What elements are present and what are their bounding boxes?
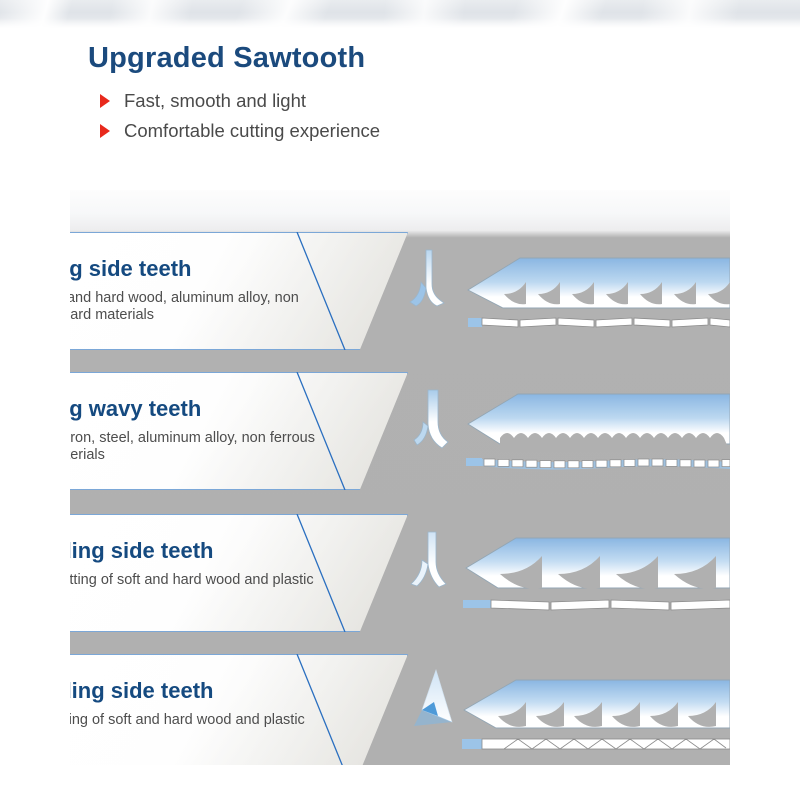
milling-side-tooth-profile-icon	[410, 250, 444, 306]
feature-row-2: Milling wavy teeth Cut soft iron, steel,…	[0, 372, 800, 490]
red-triangle-bullet-icon	[100, 124, 110, 138]
milling-side-teeth-blade	[408, 232, 730, 350]
right-white-margin	[730, 190, 800, 765]
decorative-top-band	[0, 0, 800, 28]
feature-row-3: Grinding side teeth Quick cutting of sof…	[0, 514, 800, 632]
tooth-set-top-view	[466, 458, 730, 470]
list-item: Fast, smooth and light	[100, 86, 380, 116]
tooth-set-top-view	[462, 739, 730, 749]
header-section: Upgraded Sawtooth Fast, smooth and light…	[0, 28, 800, 180]
infographic-page: Upgraded Sawtooth Fast, smooth and light…	[0, 0, 800, 800]
tooth-set-top-view	[468, 318, 730, 327]
feature-row-1: Milling side teeth Cut soft and hard woo…	[0, 232, 800, 350]
page-title: Upgraded Sawtooth	[88, 42, 365, 75]
red-triangle-bullet-icon	[100, 94, 110, 108]
list-item: Comfortable cutting experience	[100, 116, 380, 146]
bullet-label: Comfortable cutting experience	[124, 120, 380, 142]
bottom-white-margin	[0, 765, 800, 800]
milling-wavy-teeth-blade	[408, 372, 730, 490]
feature-row-4: Grinding side teeth Fine cutting of soft…	[0, 654, 800, 772]
grinding-side-tooth-profile-icon	[411, 532, 446, 587]
grinding-fine-tooth-profile-icon	[414, 670, 452, 726]
grinding-side-teeth-fine-blade	[408, 654, 730, 772]
milling-wavy-tooth-profile-icon	[414, 390, 448, 448]
tooth-set-top-view	[463, 600, 730, 610]
grinding-side-teeth-coarse-blade	[408, 514, 730, 632]
bullet-label: Fast, smooth and light	[124, 90, 306, 112]
feature-bullet-list: Fast, smooth and light Comfortable cutti…	[100, 86, 380, 146]
left-white-margin	[0, 190, 70, 765]
